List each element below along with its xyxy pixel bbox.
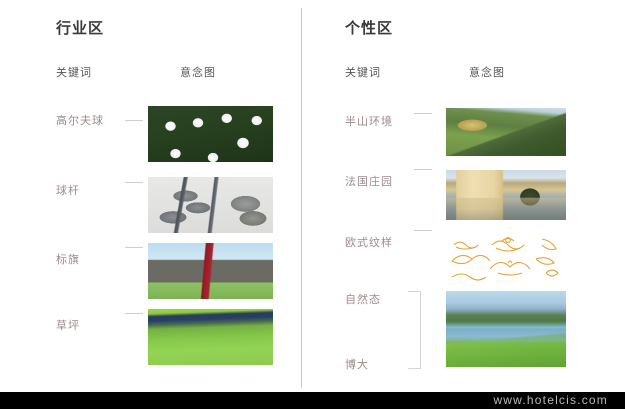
hillside-villa-photo <box>446 108 566 156</box>
connector-dash-golf-ball <box>125 120 143 121</box>
keyword-grandeur: 博大 <box>345 356 369 372</box>
column-header-image-personality: 意念图 <box>469 64 505 80</box>
slide-page: 行业区 关键词 意念图 高尔夫球 球杆 标旗 草坪 个性区 关键词 意念图 半山… <box>0 0 625 392</box>
connector-dash-golf-club <box>125 182 143 183</box>
golf-clubs-photo <box>148 177 273 233</box>
column-title-personality: 个性区 <box>345 17 393 38</box>
keyword-natural-state: 自然态 <box>345 291 381 307</box>
keyword-hillside-environment: 半山环境 <box>345 113 393 129</box>
connector-dash-lawn <box>125 313 143 314</box>
keyword-golf-ball: 高尔夫球 <box>56 112 104 128</box>
keyword-flag: 标旗 <box>56 251 80 267</box>
column-header-keyword-personality: 关键词 <box>345 64 381 80</box>
connector-dash-french-manor <box>414 169 432 170</box>
watermark-url: www.hotelcis.com <box>493 392 608 409</box>
column-header-keyword-industry: 关键词 <box>56 64 92 80</box>
connector-bracket-natural-grandeur <box>408 291 421 369</box>
golf-course-lake-mountain-photo <box>446 291 566 367</box>
golf-flag-green-photo <box>148 243 273 299</box>
column-header-image-industry: 意念图 <box>180 64 216 80</box>
connector-dash-european-pattern <box>414 230 432 231</box>
column-title-industry: 行业区 <box>56 17 104 38</box>
column-divider <box>301 8 302 388</box>
footer-bar: www.hotelcis.com <box>0 392 625 409</box>
keyword-lawn: 草坪 <box>56 317 80 333</box>
french-chateau-photo <box>446 170 566 220</box>
keyword-french-manor: 法国庄园 <box>345 173 393 189</box>
keyword-european-pattern: 欧式纹样 <box>345 234 393 250</box>
connector-dash-hillside <box>414 113 432 114</box>
keyword-golf-club: 球杆 <box>56 182 80 198</box>
golf-balls-photo <box>148 106 273 162</box>
connector-dash-flag <box>125 247 143 248</box>
lawn-turf-photo <box>148 309 273 365</box>
european-ornament-pattern <box>446 233 566 281</box>
ornament-flourish-icon <box>446 233 566 281</box>
